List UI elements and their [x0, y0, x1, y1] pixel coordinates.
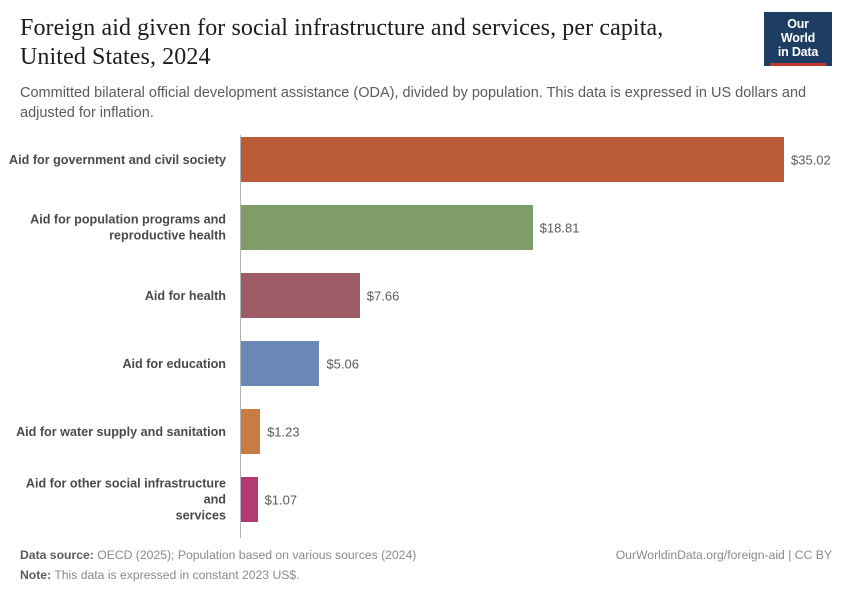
bar-rect[interactable] — [241, 409, 260, 454]
bar-value-label: $18.81 — [540, 220, 580, 235]
bar-rect[interactable] — [241, 137, 784, 182]
note-label: Note: — [20, 568, 51, 582]
bar-row[interactable]: Aid for government and civil society$35.… — [0, 137, 850, 182]
data-source-text: OECD (2025); Population based on various… — [94, 548, 416, 562]
bar-value-label: $1.07 — [265, 492, 298, 507]
attribution-link[interactable]: OurWorldinData.org/foreign-aid | CC BY — [616, 545, 832, 565]
bar-value-label: $1.23 — [267, 424, 300, 439]
page-title: Foreign aid given for social infrastruct… — [20, 14, 710, 73]
data-source-line: Data source: OECD (2025); Population bas… — [20, 545, 416, 565]
our-world-in-data-logo[interactable]: Our World in Data — [764, 12, 832, 66]
note-text: This data is expressed in constant 2023 … — [51, 568, 299, 582]
bar-value-label: $5.06 — [326, 356, 359, 371]
bar-rect[interactable] — [241, 477, 258, 522]
bar-category-label: Aid for population programs andreproduct… — [0, 211, 226, 244]
bar-row[interactable]: Aid for education$5.06 — [0, 341, 850, 386]
bar-category-label: Aid for education — [0, 355, 226, 371]
bar-rect[interactable] — [241, 273, 360, 318]
logo-underline-rule — [770, 63, 826, 66]
chart-footer: Data source: OECD (2025); Population bas… — [20, 545, 832, 585]
bar-category-label: Aid for water supply and sanitation — [0, 423, 226, 439]
data-source-label: Data source: — [20, 548, 94, 562]
bar-row[interactable]: Aid for population programs andreproduct… — [0, 205, 850, 250]
bar-row[interactable]: Aid for other social infrastructure ands… — [0, 477, 850, 522]
note-line: Note: This data is expressed in constant… — [20, 565, 300, 585]
bar-category-label: Aid for health — [0, 287, 226, 303]
logo-line-2: in Data — [770, 45, 826, 59]
bar-rect[interactable] — [241, 205, 533, 250]
bar-value-label: $35.02 — [791, 152, 831, 167]
chart-header: Foreign aid given for social infrastruct… — [0, 0, 850, 124]
bar-category-label: Aid for government and civil society — [0, 151, 226, 167]
bar-rect[interactable] — [241, 341, 319, 386]
bar-category-label: Aid for other social infrastructure ands… — [0, 475, 226, 524]
bar-value-label: $7.66 — [367, 288, 400, 303]
bar-row[interactable]: Aid for water supply and sanitation$1.23 — [0, 409, 850, 454]
logo-line-1: Our World — [770, 17, 826, 45]
bar-chart: Aid for government and civil society$35.… — [0, 126, 850, 538]
chart-subtitle: Committed bilateral official development… — [20, 83, 820, 124]
bar-row[interactable]: Aid for health$7.66 — [0, 273, 850, 318]
